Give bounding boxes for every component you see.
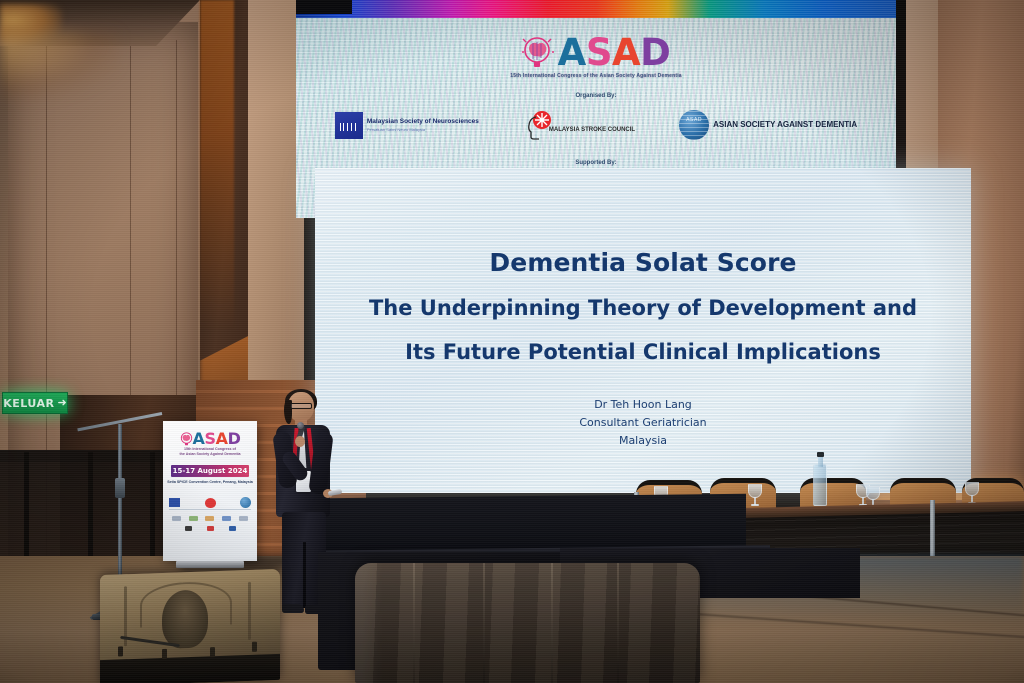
rail-post [24,452,29,570]
asad-logo: ASAD [296,34,896,71]
upper-led-screen: ASAD 15th International Congress of the … [296,18,896,218]
speaker-cone-icon [162,589,208,649]
ecg-wave-icon [335,112,363,139]
warm-light-streak [200,0,234,330]
banner-logo: ASAD [163,429,257,449]
slide-subtitle-line1: The Underpinning Theory of Development a… [315,296,971,320]
stage-monitor-speaker [100,569,280,683]
supported-by-label: Supported By: [296,160,896,166]
banner-sponsor-row [169,497,251,508]
cloth-fold [551,563,553,683]
microphone-head-icon [297,422,304,429]
shoe [282,604,304,613]
eyeglasses [290,403,312,409]
asad-roll-up-banner: ASAD 15th International Congress ofthe A… [163,421,257,561]
monitor-clip [252,642,257,652]
banner-dates: 15-17 August 2024 [171,465,249,477]
exit-sign: KELUAR ➜ [2,392,68,414]
cloth-fold [617,563,619,683]
left-hand [295,436,305,447]
sponsor-name: Malaysian Society of Neurosciences [367,118,479,125]
partner-logo-icon [229,526,236,531]
sponsor-logo-row: Malaysian Society of Neurosciences Persa… [296,110,896,140]
led-strip-dark-segment [296,0,352,14]
rail-post [150,452,155,570]
arrow-right-icon: ➜ [58,398,67,409]
brain-bulb-icon [180,432,193,446]
banner-tagline: 15th International Congress ofthe Asian … [165,447,255,458]
conference-photo-scene: ASAD 15th International Congress of the … [0,0,1024,683]
banner-divider [169,509,251,510]
organised-by-label: Organised By: [296,93,896,99]
partner-logo-icon [239,516,248,521]
banner-partner-row [168,516,252,521]
partner-logo-icon [172,516,181,521]
head-brain-icon [523,110,553,140]
monitor-clip [162,649,167,659]
partner-logo-icon [222,516,231,521]
cloth-fold [413,563,415,683]
banner-partner-row [177,526,243,531]
sponsor-subname: Persatuan Sains Neuro Malaysia [367,127,479,132]
sponsor-name: ASIAN SOCIETY AGAINST DEMENTIA [713,120,857,130]
leg-separation [303,542,306,608]
ceiling-light-glow [0,30,120,100]
partner-logo-icon [189,516,198,521]
slide-presenter-block: Dr Teh Hoon Lang Consultant Geriatrician… [315,396,971,450]
partner-logo-icon [205,516,214,521]
sponsor-malaysian-society-of-neurosciences: Malaysian Society of Neurosciences Persa… [335,112,479,139]
banner-wordmark: ASAD [193,429,241,448]
monitor-clip [118,646,123,656]
slide-subtitle-line2: Its Future Potential Clinical Implicatio… [315,340,971,364]
microphone-stand-clamp [115,478,125,498]
globe-icon: ASAD [679,110,709,140]
cloth-covered-equipment [355,563,700,683]
presenter-name: Dr Teh Hoon Lang [315,396,971,414]
sponsor-name: MALAYSIA STROKE COUNCIL [549,127,635,134]
asad-wordmark: ASAD [558,34,671,71]
congress-tagline: 15th International Congress of the Asian… [296,73,896,79]
sponsor-malaysia-stroke-council: MALAYSIA STROKE COUNCIL [523,110,635,140]
sponsor-asian-society-against-dementia: ASAD ASIAN SOCIETY AGAINST DEMENTIA [679,110,857,140]
partner-logo-icon [207,526,214,531]
presenter-role: Consultant Geriatrician [315,414,971,432]
neuroscience-logo-icon [169,498,180,507]
banner-venue: Setia SPICE Convention Centre, Penang, M… [165,480,255,484]
slide-title: Dementia Solat Score [315,248,971,277]
cloth-fold [483,563,485,683]
stroke-council-logo-icon [205,498,216,508]
exit-sign-label: KELUAR [3,397,54,410]
monitor-ridge [248,582,251,640]
asad-globe-icon [240,497,251,508]
monitor-clip [210,647,215,657]
globe-label: ASAD [679,117,709,123]
partner-logo-icon [185,526,192,531]
brain-bulb-icon [522,36,554,70]
monitor-base [100,654,280,683]
banner-base [176,561,244,568]
rail-post [88,452,93,570]
presenter-country: Malaysia [315,432,971,450]
